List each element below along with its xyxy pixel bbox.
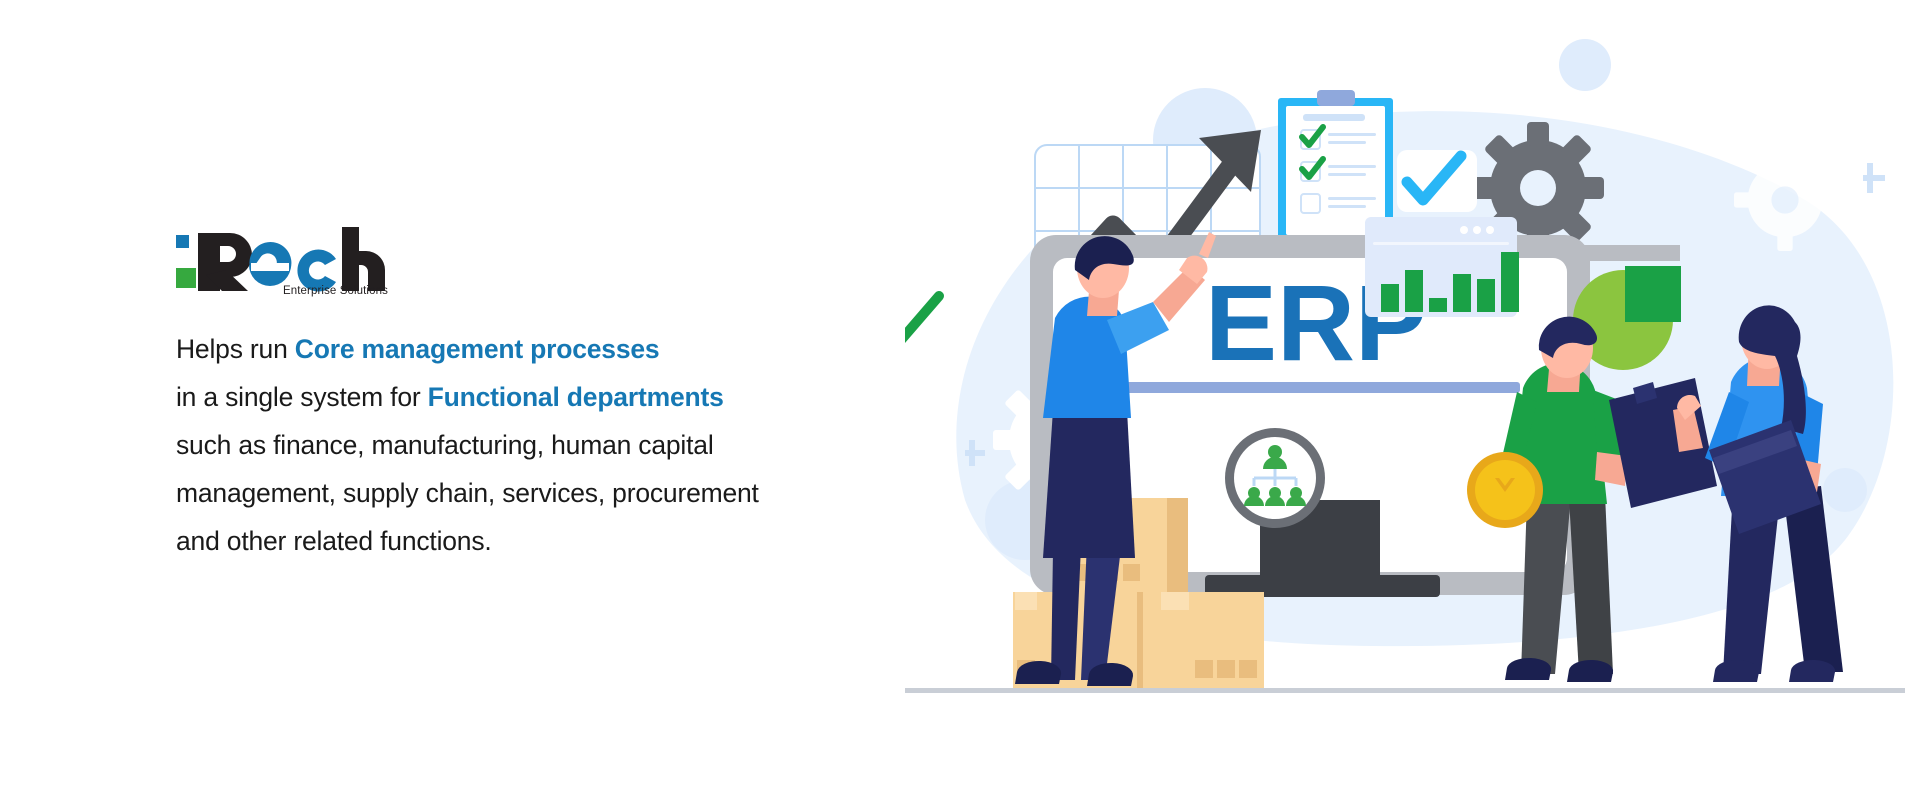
logo-letter-R — [198, 233, 252, 291]
copy-line-2-highlight: Functional departments — [428, 382, 724, 412]
pie-slice-minor — [1625, 266, 1681, 322]
trousers — [1043, 410, 1135, 558]
erp-illustration: ERP — [905, 20, 1905, 700]
clipboard-clip — [1317, 90, 1355, 106]
logo-letter-e — [249, 242, 291, 291]
org-chart-badge[interactable] — [1225, 428, 1325, 528]
copy-line-4: management, supply chain, services, proc… — [176, 469, 856, 517]
logo-square-green — [176, 268, 196, 288]
deco-circle-2 — [1559, 39, 1611, 91]
copy-line-2-plain: in a single system for — [176, 382, 428, 412]
bar-chart-card[interactable] — [1365, 217, 1519, 317]
green-check-badge — [905, 290, 957, 354]
window-dots — [1460, 226, 1494, 234]
erp-underline — [1090, 382, 1520, 393]
copy-line-3: such as finance, manufacturing, human ca… — [176, 421, 856, 469]
brand-logo[interactable]: Enterprise Solutions — [176, 225, 391, 303]
logo-letter-h — [342, 227, 385, 291]
copy-line-1-plain: Helps run — [176, 334, 295, 364]
copy-line-1-highlight: Core management processes — [295, 334, 660, 364]
brand-tagline: Enterprise Solutions — [283, 285, 388, 297]
hero-copy: Helps run Core management processes in a… — [176, 325, 856, 565]
copy-line-1: Helps run Core management processes — [176, 325, 856, 373]
left-content-column: Enterprise Solutions Helps run Core mana… — [176, 225, 876, 565]
logo-square-blue — [176, 235, 189, 248]
cyan-check-badge — [1397, 150, 1477, 212]
page-root: Enterprise Solutions Helps run Core mana… — [0, 0, 1920, 805]
checkbox-empty — [1301, 194, 1320, 213]
copy-line-5: and other related functions. — [176, 517, 856, 565]
gold-coin — [1467, 452, 1543, 528]
ground-line — [905, 688, 1905, 693]
erp-illustration-svg: ERP — [905, 20, 1905, 700]
copy-line-2: in a single system for Functional depart… — [176, 373, 856, 421]
deco-circle-4 — [1823, 468, 1867, 512]
